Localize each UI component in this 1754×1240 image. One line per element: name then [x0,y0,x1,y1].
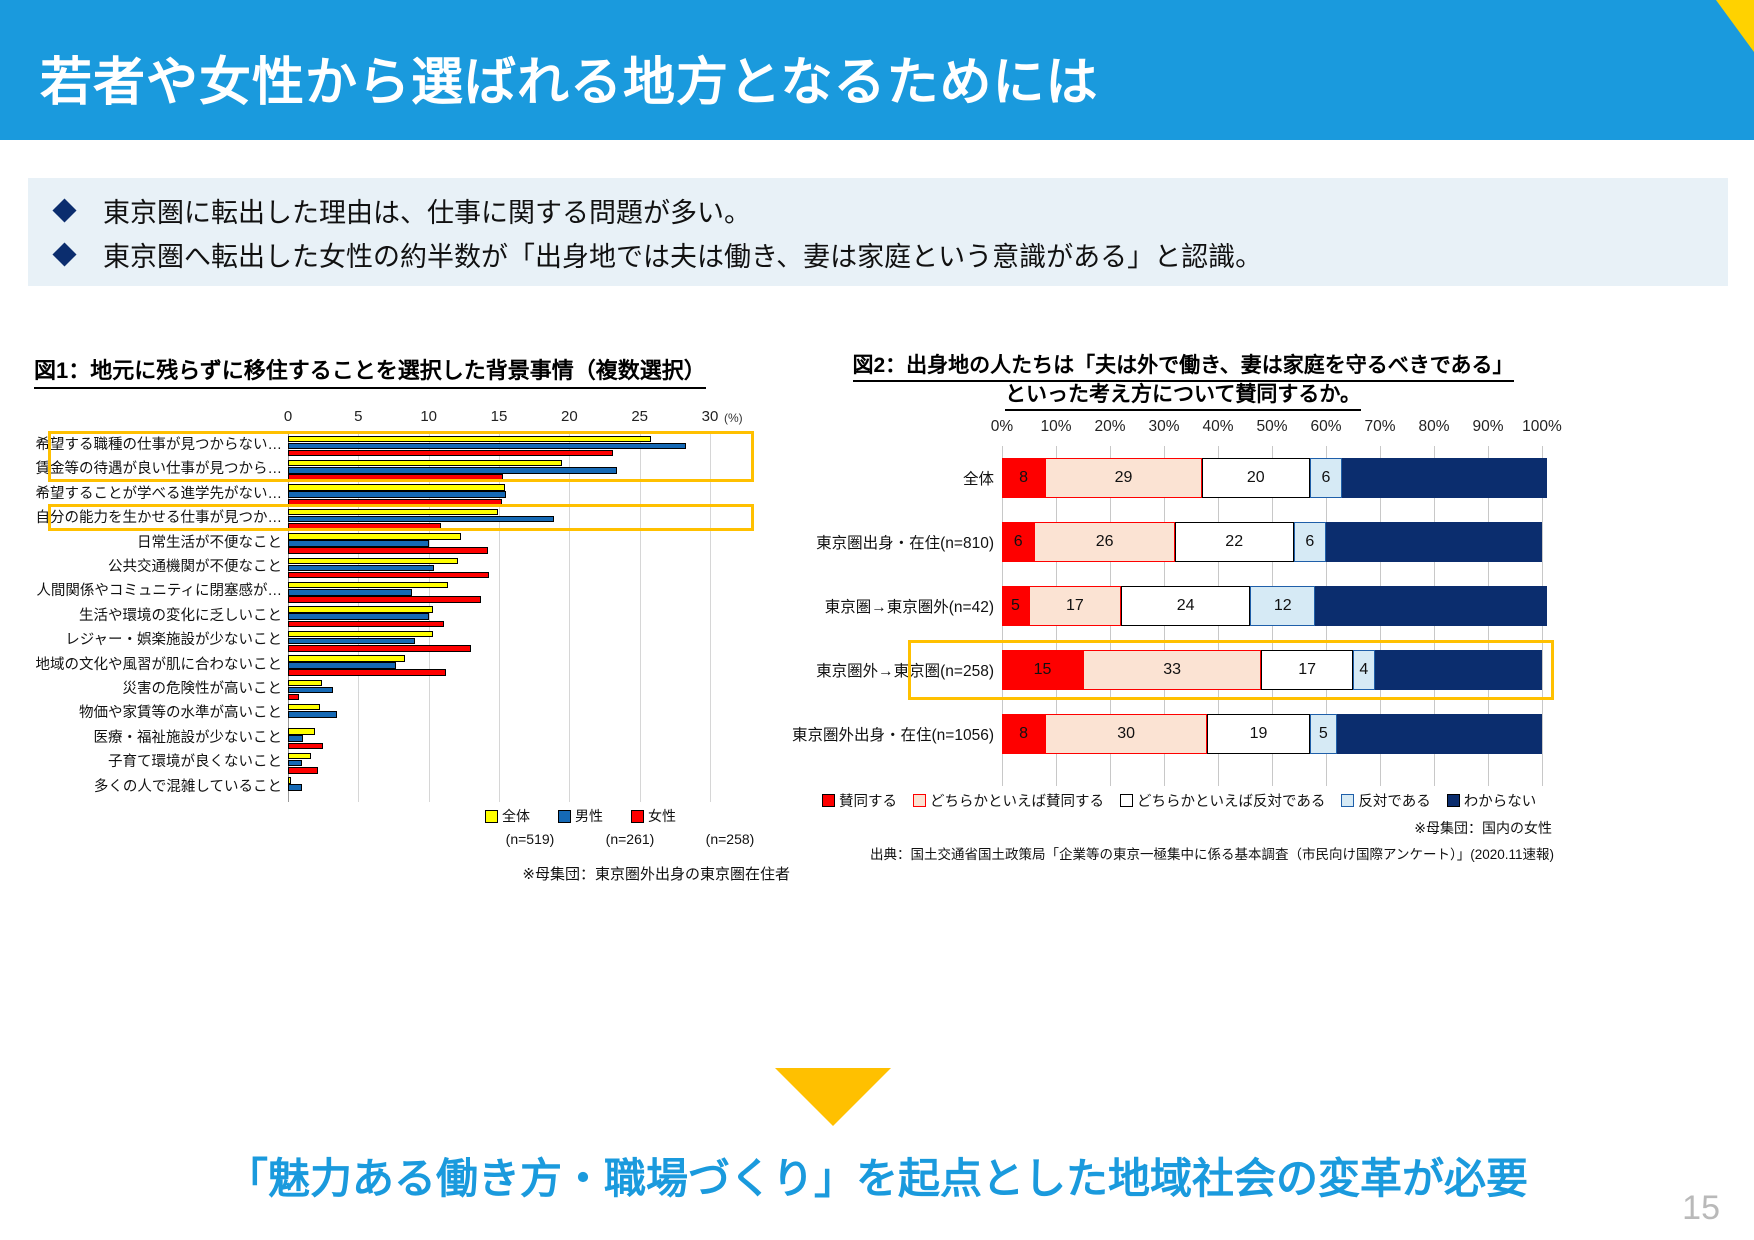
figure1-bar-row: レジャー・娯楽施設が少ないこと [30,629,790,653]
figure1-bar [288,645,471,652]
figure2-bar-segment [1326,522,1542,562]
figure2-bar-segment: 20 [1202,458,1310,498]
figure1-x-tick: 20 [561,408,578,425]
figure2-bar-segment [1342,458,1547,498]
figure1-legend-swatch [631,810,644,823]
figure2-category-label: 全体 [812,450,1002,506]
figure2-x-axis: 0%10%20%30%40%50%60%70%80%90%100% [812,418,1554,440]
figure2-bar-segment: 24 [1121,586,1251,626]
bullet-item: 東京圏へ転出した女性の約半数が「出身地では夫は働き、妻は家庭という意識がある」と… [56,232,1728,276]
figure1-legend-item: 全体 [485,806,530,826]
figure1-category-label: 医療・福祉施設が少ないこと [27,728,282,749]
figure1-category-label: 地域の文化や風習が肌に合わないこと [27,655,282,676]
figure2-bar-segment: 8 [1002,458,1045,498]
figure1-category-label: 希望することが学べる進学先がない… [27,484,282,505]
figure1-legend-item: 男性 [558,806,603,826]
figure1-category-label: 生活や環境の変化に乏しいこと [27,606,282,627]
figure1-bar [288,662,396,669]
figure2-bar-row: 東京圏→東京圏外(n=42)5172412 [812,578,1554,634]
diamond-bullet-icon [52,242,76,266]
figure2-x-tick: 60% [1310,418,1341,436]
figure1-title: 図1：地元に残らずに移住することを選択した背景事情（複数選択） [34,353,706,389]
figure1-x-tick: 0 [284,408,292,425]
figure2-legend-label: どちらかといえば反対である [1137,790,1325,811]
diamond-bullet-icon [52,198,76,222]
figure2-bar-row: 東京圏外出身・在住(n=1056)830195 [812,706,1554,762]
conclusion-text: 「魅力ある働き方・職場づくり」を起点とした地域社会の変革が必要 [0,1145,1754,1206]
figure2-bar-segment: 17 [1029,586,1121,626]
figure1-plot-area: 希望する職種の仕事が見つからない…賃金等の待遇が良い仕事が見つから…希望すること… [30,432,790,802]
figure2-x-tick: 80% [1418,418,1449,436]
figure2-x-tick: 40% [1202,418,1233,436]
figure1-bar [288,743,323,750]
figure2-x-tick: 20% [1094,418,1125,436]
figure2-x-tick: 50% [1256,418,1287,436]
figure2-x-tick: 90% [1472,418,1503,436]
bullet-item: 東京圏に転出した理由は、仕事に関する問題が多い。 [56,178,1728,232]
bullet-text: 東京圏に転出した理由は、仕事に関する問題が多い。 [103,191,751,230]
figure1-note: ※母集団：東京圏外出身の東京圏在住者 [270,863,790,884]
figure1-legend-label: 全体 [502,806,530,826]
figure2-x-tick: 70% [1364,418,1395,436]
figure1-bar [288,680,322,687]
figure2-chart: 0%10%20%30%40%50%60%70%80%90%100% 全体8292… [812,418,1554,918]
figure2-legend-label: 反対である [1358,790,1430,811]
figure1-bar [288,655,405,662]
figure1-x-tick: 5 [354,408,362,425]
figure1-legend-swatch [558,810,571,823]
figure1-legend-count: (n=261) [580,831,680,847]
figure2-legend-swatch [1341,794,1354,807]
figure2-bar-segment: 6 [1310,458,1342,498]
figure1-bar [288,596,481,603]
figure1-bar [288,704,320,711]
figure1-bar-row: 公共交通機関が不便なこと [30,556,790,580]
figure2-highlight-box [908,640,1554,700]
figure2-legend-swatch [1447,794,1460,807]
figure2-bar-segment: 19 [1207,714,1310,754]
figure2-title-line1: 図2：出身地の人たちは「夫は外で働き、妻は家庭を守るべきである」 [853,353,1514,382]
figure1-bar [288,540,429,547]
figure2-source: 出典：国土交通省国土政策局「企業等の東京一極集中に係る基本調査（市民向け国際アン… [802,843,1554,863]
figure1-bar [288,711,337,718]
figure1-highlight-box [48,431,754,482]
figure1-bar [288,484,505,491]
figure1-bar-row: 災害の危険性が高いこと [30,678,790,702]
figure1-highlight-box [48,504,754,530]
down-arrow-icon [775,1068,891,1126]
figure1-category-label: レジャー・娯楽施設が少ないこと [27,630,282,651]
figure1-bar-row: 医療・福祉施設が少ないこと [30,727,790,751]
figure2-x-tick: 100% [1522,418,1562,436]
figure2-bar-segment [1315,586,1547,626]
figure1-bar [288,621,444,628]
figure1-legend-item: 女性 [631,806,676,826]
figure1-x-tick: 30 [702,408,719,425]
figure2-bar-row: 全体829206 [812,450,1554,506]
figure2-legend-item: どちらかといえば賛同する [913,790,1104,811]
figure1-bar-row: 物価や家賃等の水準が高いこと [30,702,790,726]
figure1-x-tick: 25 [631,408,648,425]
figure1-bar [288,753,311,760]
summary-bullets: 東京圏に転出した理由は、仕事に関する問題が多い。 東京圏へ転出した女性の約半数が… [28,178,1728,286]
figure1-bar [288,767,318,774]
figure2-bar-segment: 6 [1002,522,1034,562]
figure2-bar-segment: 6 [1294,522,1326,562]
figure2-bar-segment: 5 [1002,586,1029,626]
figure2-x-tick: 30% [1148,418,1179,436]
figure2-plot-area: 全体829206東京圏出身・在住(n=810)626226東京圏→東京圏外(n=… [812,446,1554,786]
figure1-category-label: 物価や家賃等の水準が高いこと [27,703,282,724]
page-number: 15 [1682,1189,1720,1228]
figure2-legend-label: 賛同する [839,790,897,811]
figure2-bar-segment: 5 [1310,714,1337,754]
figure1-category-label: 公共交通機関が不便なこと [27,557,282,578]
figure2-bar-segment: 12 [1250,586,1315,626]
figure2-legend-item: どちらかといえば反対である [1120,790,1325,811]
figure1-bar [288,728,315,735]
figure1-bar [288,491,506,498]
figure1-bar-row: 日常生活が不便なこと [30,532,790,556]
figure1-bar-row: 多くの人で混雑していること [30,776,790,800]
corner-flag-icon [1716,0,1754,52]
figure2-title-line2: といった考え方について賛同するか。 [1005,382,1361,411]
figure1-legend-counts: (n=519)(n=261)(n=258) [480,831,800,847]
figure1-bar [288,687,333,694]
figure2-x-tick: 0% [991,418,1013,436]
figure2-legend-label: どちらかといえば賛同する [930,790,1104,811]
figure1-bar-row: 子育て環境が良くないこと [30,751,790,775]
figure1-bar [288,606,433,613]
figure2-legend-item: 反対である [1341,790,1430,811]
figure1-bar [288,613,429,620]
bullet-text: 東京圏へ転出した女性の約半数が「出身地では夫は働き、妻は家庭という意識がある」と… [103,235,1262,274]
slide-header: 若者や女性から選ばれる地方となるためには [0,0,1754,140]
figure1-bar-row: 人間関係やコミュニティに閉塞感が… [30,580,790,604]
figure1-bar-row: 生活や環境の変化に乏しいこと [30,605,790,629]
figure1-x-axis: 051015202530(%) [30,408,790,430]
figure1-bar [288,565,434,572]
figure1-unit-label: (%) [724,411,743,425]
figure1-legend: 全体男性女性 [485,806,795,826]
figure1-bar [288,582,448,589]
figure2-note: ※母集団：国内の女性 [1132,818,1552,838]
figure1-bar [288,638,415,645]
figure2-bar-row: 東京圏出身・在住(n=810)626226 [812,514,1554,570]
figure1-legend-count: (n=519) [480,831,580,847]
figure1-legend-label: 男性 [575,806,603,826]
figure2-legend-item: わからない [1447,790,1537,811]
figure1-bar [288,784,302,791]
figure2-bar-segment: 26 [1034,522,1174,562]
figure1-legend-label: 女性 [648,806,676,826]
figure2-legend: 賛同するどちらかといえば賛同するどちらかといえば反対である反対であるわからない [822,790,1564,811]
figure1-bar [288,777,291,784]
figure2-title: 図2：出身地の人たちは「夫は外で働き、妻は家庭を守るべきである」 といった考え方… [812,353,1554,411]
figure1-bar [288,669,446,676]
figure2-legend-item: 賛同する [822,790,897,811]
figure2-bar-segment: 29 [1045,458,1202,498]
figure2-category-label: 東京圏出身・在住(n=810) [812,514,1002,570]
figure1-category-label: 災害の危険性が高いこと [27,679,282,700]
figure2-legend-label: わからない [1464,790,1537,811]
figure1-bar [288,589,412,596]
figure2-bar-segment: 8 [1002,714,1045,754]
figure1-bar [288,547,488,554]
figure1-bar [288,572,489,579]
figure1-bar [288,631,433,638]
figure2-x-tick: 10% [1040,418,1071,436]
figure1-category-label: 日常生活が不便なこと [27,533,282,554]
figure2-bar-segment: 30 [1045,714,1207,754]
figure1-legend-count: (n=258) [680,831,780,847]
figure1-bar [288,694,299,701]
figure2-legend-swatch [913,794,926,807]
figure1-x-tick: 15 [491,408,508,425]
figure1-chart: 051015202530(%) 希望する職種の仕事が見つからない…賃金等の待遇が… [30,408,790,858]
figure2-bar-segment [1337,714,1542,754]
figure1-category-label: 子育て環境が良くないこと [27,752,282,773]
figure2-legend-swatch [1120,794,1133,807]
page-title: 若者や女性から選ばれる地方となるためには [40,40,1098,115]
figure1-bar [288,735,303,742]
figure2-bar-segment: 22 [1175,522,1294,562]
figure1-bar-row: 地域の文化や風習が肌に合わないこと [30,654,790,678]
figure2-category-label: 東京圏外出身・在住(n=1056) [812,706,1002,762]
figure2-category-label: 東京圏→東京圏外(n=42) [812,578,1002,634]
figure1-bar [288,760,302,767]
figure1-x-tick: 10 [420,408,437,425]
figure1-bar [288,558,458,565]
figure1-category-label: 多くの人で混雑していること [27,777,282,798]
figure1-legend-swatch [485,810,498,823]
figure2-legend-swatch [822,794,835,807]
figure1-bar [288,533,461,540]
figure1-category-label: 人間関係やコミュニティに閉塞感が… [27,581,282,602]
